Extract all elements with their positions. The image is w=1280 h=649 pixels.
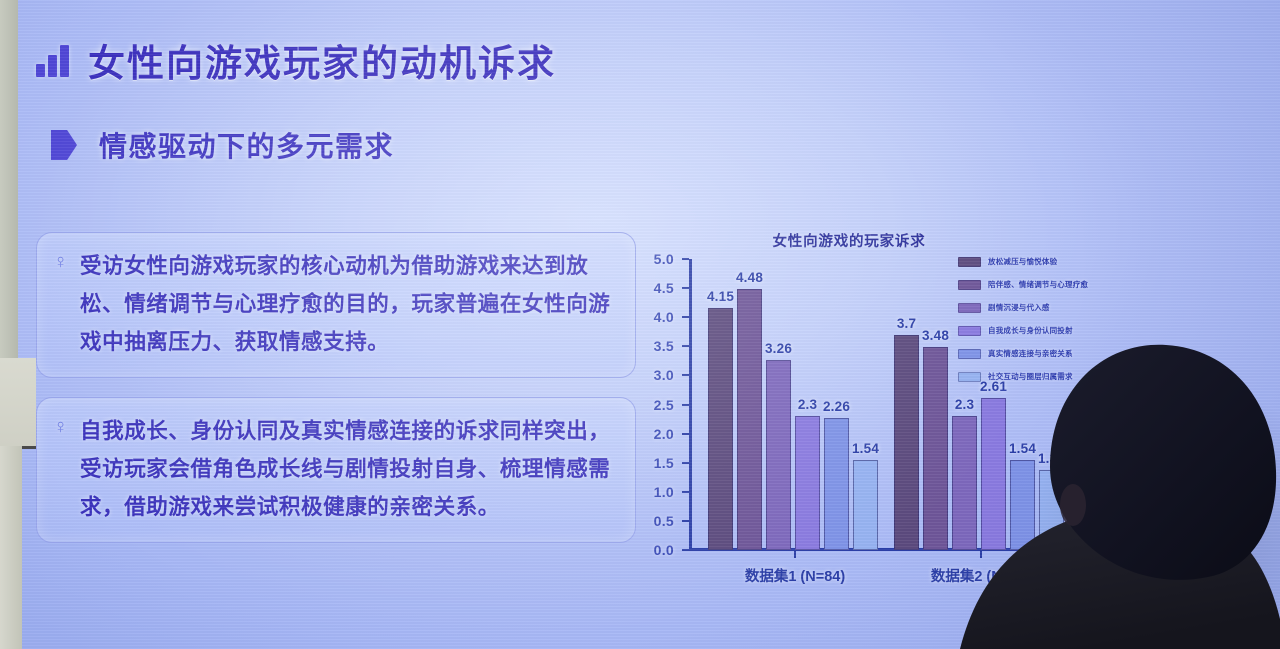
y-axis-tick-label: 1.5 bbox=[654, 455, 674, 471]
bar-value-label: 3.7 bbox=[897, 316, 916, 331]
legend-label: 社交互动与圈层归属需求 bbox=[988, 371, 1073, 382]
legend-label: 真实情感连接与亲密关系 bbox=[988, 348, 1073, 359]
x-axis-end-cap bbox=[1090, 541, 1093, 551]
insight-card: ♀ 受访女性向游戏玩家的核心动机为借助游戏来达到放松、情绪调节与心理疗愈的目的，… bbox=[36, 232, 636, 378]
page-title: 女性向游戏玩家的动机诉求 bbox=[88, 33, 556, 87]
y-axis-tick-mark bbox=[682, 433, 689, 435]
x-axis-category-label: 数据集1 (N=84) bbox=[745, 565, 845, 586]
legend-item[interactable]: 放松减压与愉悦体验 bbox=[958, 250, 1144, 273]
bar-value-label: 3.48 bbox=[922, 328, 949, 343]
y-axis-tick-mark bbox=[682, 491, 689, 493]
bar: 3.26 bbox=[766, 360, 791, 550]
legend-item[interactable]: 社交互动与圈层归属需求 bbox=[958, 365, 1144, 388]
legend-label: 自我成长与身份认同投射 bbox=[988, 325, 1073, 336]
bar: 1.54 bbox=[1010, 460, 1035, 550]
bar: 2.3 bbox=[795, 416, 820, 550]
y-axis-tick-label: 1.0 bbox=[654, 484, 674, 500]
x-axis-tick-mark bbox=[980, 550, 982, 558]
x-axis-tick-mark bbox=[794, 550, 796, 558]
y-axis-tick-label: 0.0 bbox=[654, 542, 674, 558]
bar-value-label: 2.3 bbox=[798, 397, 817, 412]
legend-color-swatch bbox=[958, 349, 981, 359]
legend-color-swatch bbox=[958, 257, 981, 267]
insight-card-text: 自我成长、身份认同及真实情感连接的诉求同样突出，受访玩家会借角色成长线与剧情投射… bbox=[80, 412, 615, 526]
legend-item[interactable]: 自我成长与身份认同投射 bbox=[958, 319, 1144, 342]
legend-label: 剧情沉浸与代入感 bbox=[988, 302, 1050, 313]
bar-value-label: 4.48 bbox=[736, 270, 763, 285]
legend-color-swatch bbox=[958, 303, 981, 313]
x-axis-category-label: 数据集2 (N=56) bbox=[931, 565, 1031, 586]
y-axis-tick-label: 4.0 bbox=[654, 309, 674, 325]
bar-value-label: 2.3 bbox=[955, 397, 974, 412]
title-row: 女性向游戏玩家的动机诉求 bbox=[36, 33, 556, 87]
bar-chart: 女性向游戏的玩家诉求 5.04.54.03.53.02.52.01.51.00.… bbox=[638, 228, 1138, 588]
bar: 4.15 bbox=[708, 308, 733, 550]
y-axis: 5.04.54.03.53.02.52.01.51.00.50.0 bbox=[638, 259, 690, 550]
bar: 2.61 bbox=[981, 398, 1006, 550]
bar-value-label: 2.26 bbox=[823, 399, 850, 414]
y-axis-tick-mark bbox=[682, 462, 689, 464]
room-wall-panel bbox=[0, 358, 36, 449]
legend-label: 陪伴感、情绪调节与心理疗愈 bbox=[988, 279, 1088, 290]
bar: 3.7 bbox=[894, 335, 919, 550]
y-axis-tick-mark bbox=[682, 374, 689, 376]
bar: 2.3 bbox=[952, 416, 977, 550]
bar-chart-icon bbox=[36, 43, 70, 77]
bar-value-label: 1.54 bbox=[852, 441, 879, 456]
bar: 1.54 bbox=[853, 460, 878, 550]
bar: 3.48 bbox=[923, 347, 948, 550]
subtitle-row: 情感驱动下的多元需求 bbox=[51, 125, 394, 165]
insight-card-text: 受访女性向游戏玩家的核心动机为借助游戏来达到放松、情绪调节与心理疗愈的目的，玩家… bbox=[80, 247, 615, 361]
legend-color-swatch bbox=[958, 280, 981, 290]
legend-color-swatch bbox=[958, 372, 981, 382]
venus-icon: ♀ bbox=[53, 247, 68, 277]
y-axis-tick-label: 5.0 bbox=[654, 251, 674, 267]
y-axis-tick-mark bbox=[682, 258, 689, 260]
y-axis-tick-mark bbox=[682, 287, 689, 289]
y-axis-line bbox=[689, 259, 692, 550]
y-axis-tick-label: 2.0 bbox=[654, 426, 674, 442]
legend-label: 放松减压与愉悦体验 bbox=[988, 256, 1057, 267]
bar-value-label: 1.38 bbox=[1038, 451, 1065, 466]
bar: 1.38 bbox=[1039, 470, 1064, 550]
chart-legend: 放松减压与愉悦体验陪伴感、情绪调节与心理疗愈剧情沉浸与代入感自我成长与身份认同投… bbox=[958, 250, 1144, 388]
insight-card: ♀ 自我成长、身份认同及真实情感连接的诉求同样突出，受访玩家会借角色成长线与剧情… bbox=[36, 397, 636, 543]
legend-item[interactable]: 剧情沉浸与代入感 bbox=[958, 296, 1144, 319]
y-axis-tick-mark bbox=[682, 404, 689, 406]
page-subtitle: 情感驱动下的多元需求 bbox=[99, 125, 394, 165]
chart-title: 女性向游戏的玩家诉求 bbox=[638, 230, 1138, 251]
insight-cards: ♀ 受访女性向游戏玩家的核心动机为借助游戏来达到放松、情绪调节与心理疗愈的目的，… bbox=[36, 232, 636, 543]
venus-icon: ♀ bbox=[53, 412, 68, 442]
legend-item[interactable]: 真实情感连接与亲密关系 bbox=[958, 342, 1144, 365]
y-axis-tick-label: 3.0 bbox=[654, 367, 674, 383]
bar-value-label: 4.15 bbox=[707, 289, 734, 304]
y-axis-tick-mark bbox=[682, 549, 689, 551]
legend-color-swatch bbox=[958, 326, 981, 336]
y-axis-tick-label: 0.5 bbox=[654, 513, 674, 529]
bar-value-label: 1.54 bbox=[1009, 441, 1036, 456]
room-wall-post bbox=[0, 446, 22, 649]
y-axis-tick-mark bbox=[682, 345, 689, 347]
bar: 2.26 bbox=[824, 418, 849, 550]
legend-item[interactable]: 陪伴感、情绪调节与心理疗愈 bbox=[958, 273, 1144, 296]
y-axis-tick-label: 2.5 bbox=[654, 397, 674, 413]
y-axis-tick-label: 3.5 bbox=[654, 338, 674, 354]
bar: 4.48 bbox=[737, 289, 762, 550]
y-axis-tick-label: 4.5 bbox=[654, 280, 674, 296]
projection-screen: 女性向游戏玩家的动机诉求 情感驱动下的多元需求 ♀ 受访女性向游戏玩家的核心动机… bbox=[18, 0, 1280, 649]
y-axis-tick-mark bbox=[682, 316, 689, 318]
arrow-right-pentagon-icon bbox=[51, 130, 77, 160]
bar-group: 4.154.483.262.32.261.54数据集1 (N=84) bbox=[708, 259, 882, 550]
bar-value-label: 3.26 bbox=[765, 341, 792, 356]
y-axis-tick-mark bbox=[682, 520, 689, 522]
